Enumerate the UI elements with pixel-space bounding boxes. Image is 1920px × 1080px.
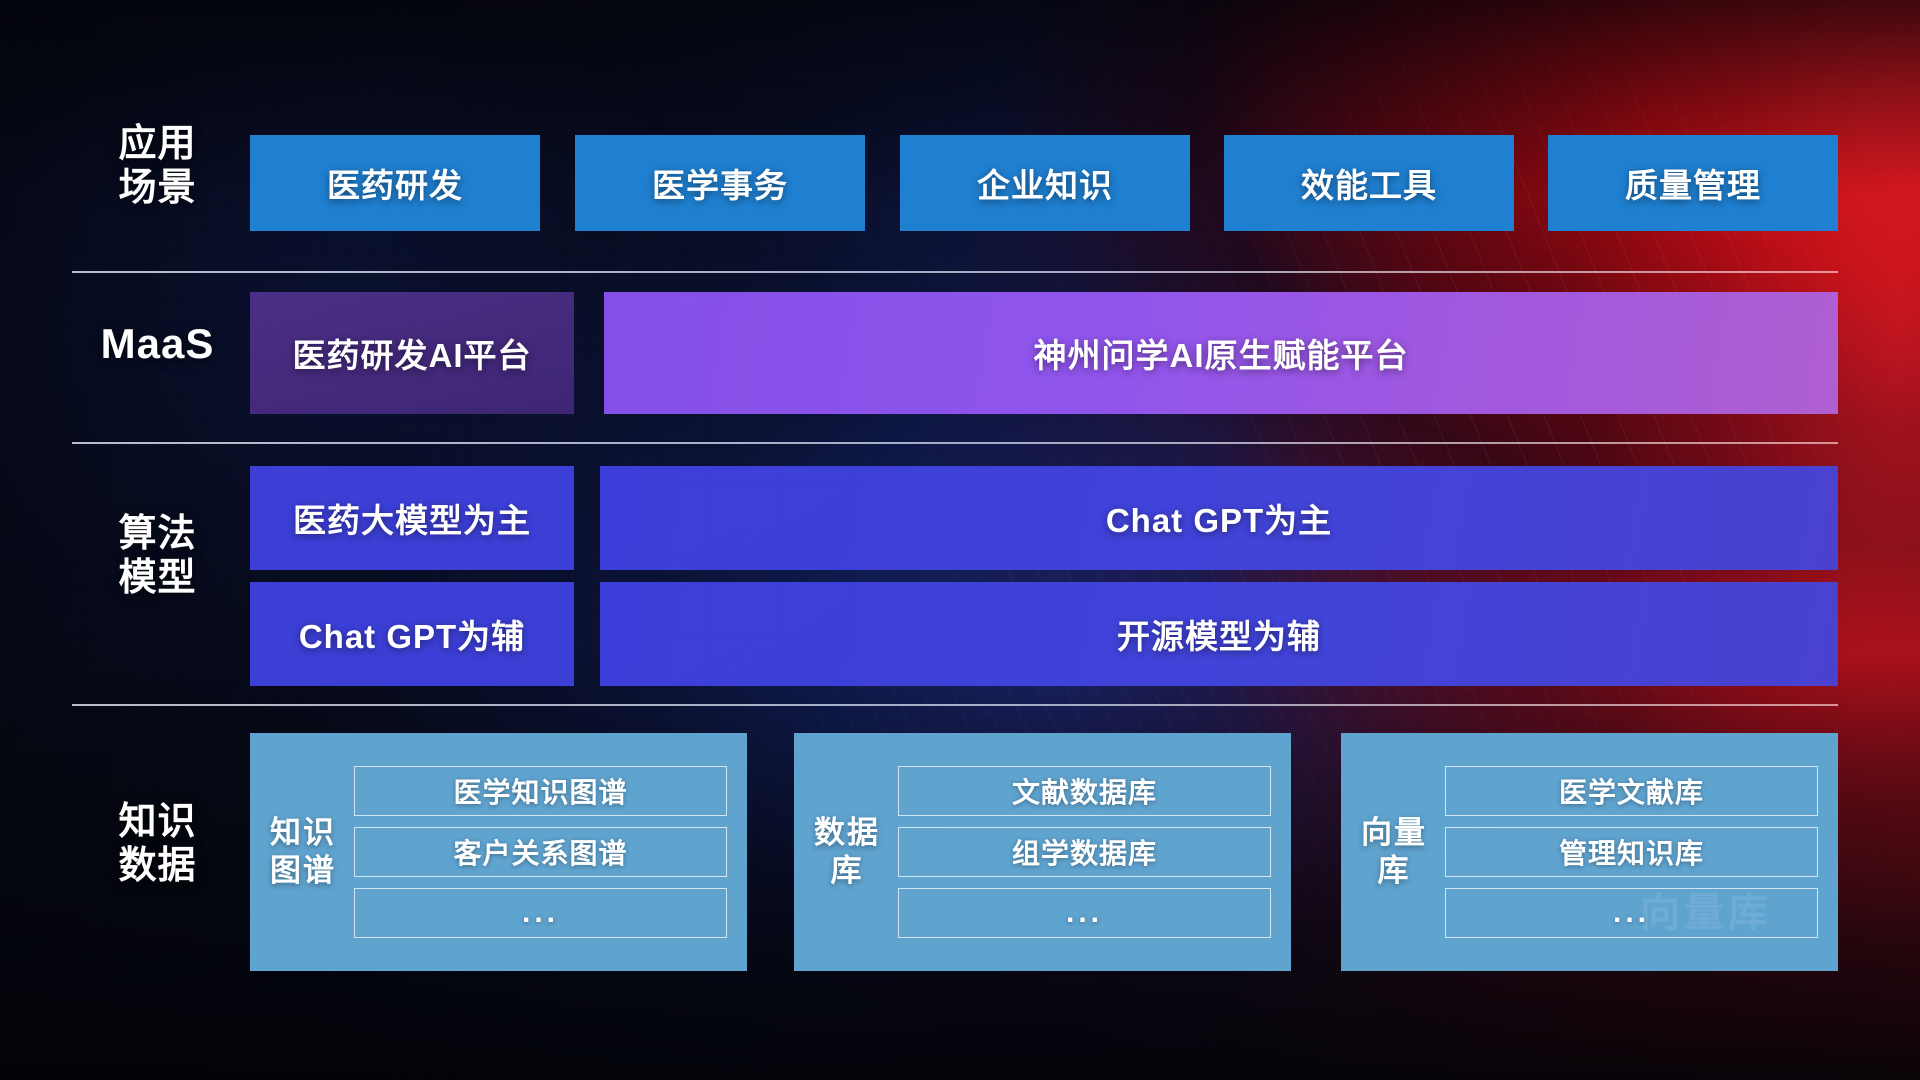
- knowledge-group-1-items: 医学知识图谱 客户关系图谱 ...: [354, 766, 727, 938]
- knowledge-group-database[interactable]: 数据库 文献数据库 组学数据库 ...: [794, 733, 1291, 971]
- knowledge-item-1-3[interactable]: ...: [354, 888, 727, 938]
- row-label-maas: MaaS: [70, 320, 245, 369]
- scenario-box-1[interactable]: 医药研发: [250, 135, 540, 231]
- divider-scenario-maas: [72, 271, 1838, 273]
- diagram-canvas: 应用 场景 医药研发 医学事务 企业知识 效能工具 质量管理 MaaS 医药研发…: [0, 0, 1920, 1080]
- divider-maas-algorithm: [72, 442, 1838, 444]
- scenario-box-4-label: 效能工具: [1301, 159, 1437, 207]
- algorithm-box-right-2-label: 开源模型为辅: [1117, 610, 1321, 658]
- knowledge-group-knowledge-graph[interactable]: 知识图谱 医学知识图谱 客户关系图谱 ...: [250, 733, 747, 971]
- divider-algorithm-knowledge: [72, 704, 1838, 706]
- knowledge-item-1-3-label: ...: [522, 896, 559, 930]
- row-label-knowledge: 知识 数据: [70, 800, 245, 888]
- scenario-box-3[interactable]: 企业知识: [900, 135, 1190, 231]
- maas-platform-box-drug-rd[interactable]: 医药研发AI平台: [250, 292, 574, 414]
- maas-platform-box-shenzhou[interactable]: 神州问学AI原生赋能平台: [604, 292, 1838, 414]
- scenario-box-2-label: 医学事务: [652, 159, 788, 207]
- knowledge-item-2-3[interactable]: ...: [898, 888, 1271, 938]
- knowledge-item-1-2[interactable]: 客户关系图谱: [354, 827, 727, 877]
- scenario-box-3-label: 企业知识: [977, 159, 1113, 207]
- maas-left-label: 医药研发AI平台: [293, 329, 532, 377]
- knowledge-group-vector-store[interactable]: 向量库 医学文献库 管理知识库 ...: [1341, 733, 1838, 971]
- algorithm-box-right-1-label: Chat GPT为主: [1106, 494, 1332, 542]
- knowledge-item-3-2-label: 管理知识库: [1559, 832, 1704, 872]
- row-label-algorithm: 算法 模型: [70, 512, 245, 600]
- knowledge-group-2-title: 数据库: [810, 814, 884, 890]
- knowledge-item-3-3-label: ...: [1613, 896, 1650, 930]
- scenario-box-1-label: 医药研发: [327, 159, 463, 207]
- scenario-box-4[interactable]: 效能工具: [1224, 135, 1514, 231]
- algorithm-box-left-2[interactable]: Chat GPT为辅: [250, 582, 574, 686]
- knowledge-item-2-1[interactable]: 文献数据库: [898, 766, 1271, 816]
- scenario-box-5-label: 质量管理: [1625, 159, 1761, 207]
- algorithm-box-left-1[interactable]: 医药大模型为主: [250, 466, 574, 570]
- algorithm-box-right-1[interactable]: Chat GPT为主: [600, 466, 1838, 570]
- knowledge-group-3-title: 向量库: [1357, 814, 1431, 890]
- knowledge-item-2-3-label: ...: [1066, 896, 1103, 930]
- knowledge-group-1-title: 知识图谱: [266, 814, 340, 890]
- maas-right-label: 神州问学AI原生赋能平台: [1034, 329, 1409, 377]
- knowledge-item-2-2-label: 组学数据库: [1012, 832, 1157, 872]
- knowledge-item-3-2[interactable]: 管理知识库: [1445, 827, 1818, 877]
- knowledge-item-1-1-label: 医学知识图谱: [453, 771, 627, 811]
- knowledge-group-3-items: 医学文献库 管理知识库 ...: [1445, 766, 1818, 938]
- row-label-scenario: 应用 场景: [70, 122, 245, 210]
- knowledge-item-3-1-label: 医学文献库: [1559, 771, 1704, 811]
- algorithm-box-right-2[interactable]: 开源模型为辅: [600, 582, 1838, 686]
- knowledge-item-3-1[interactable]: 医学文献库: [1445, 766, 1818, 816]
- knowledge-item-3-3[interactable]: ...: [1445, 888, 1818, 938]
- scenario-box-5[interactable]: 质量管理: [1548, 135, 1838, 231]
- knowledge-item-1-2-label: 客户关系图谱: [453, 832, 627, 872]
- knowledge-item-2-1-label: 文献数据库: [1012, 771, 1157, 811]
- knowledge-group-2-items: 文献数据库 组学数据库 ...: [898, 766, 1271, 938]
- knowledge-item-1-1[interactable]: 医学知识图谱: [354, 766, 727, 816]
- algorithm-box-left-1-label: 医药大模型为主: [293, 494, 531, 542]
- knowledge-item-2-2[interactable]: 组学数据库: [898, 827, 1271, 877]
- algorithm-box-left-2-label: Chat GPT为辅: [299, 610, 525, 658]
- scenario-box-2[interactable]: 医学事务: [575, 135, 865, 231]
